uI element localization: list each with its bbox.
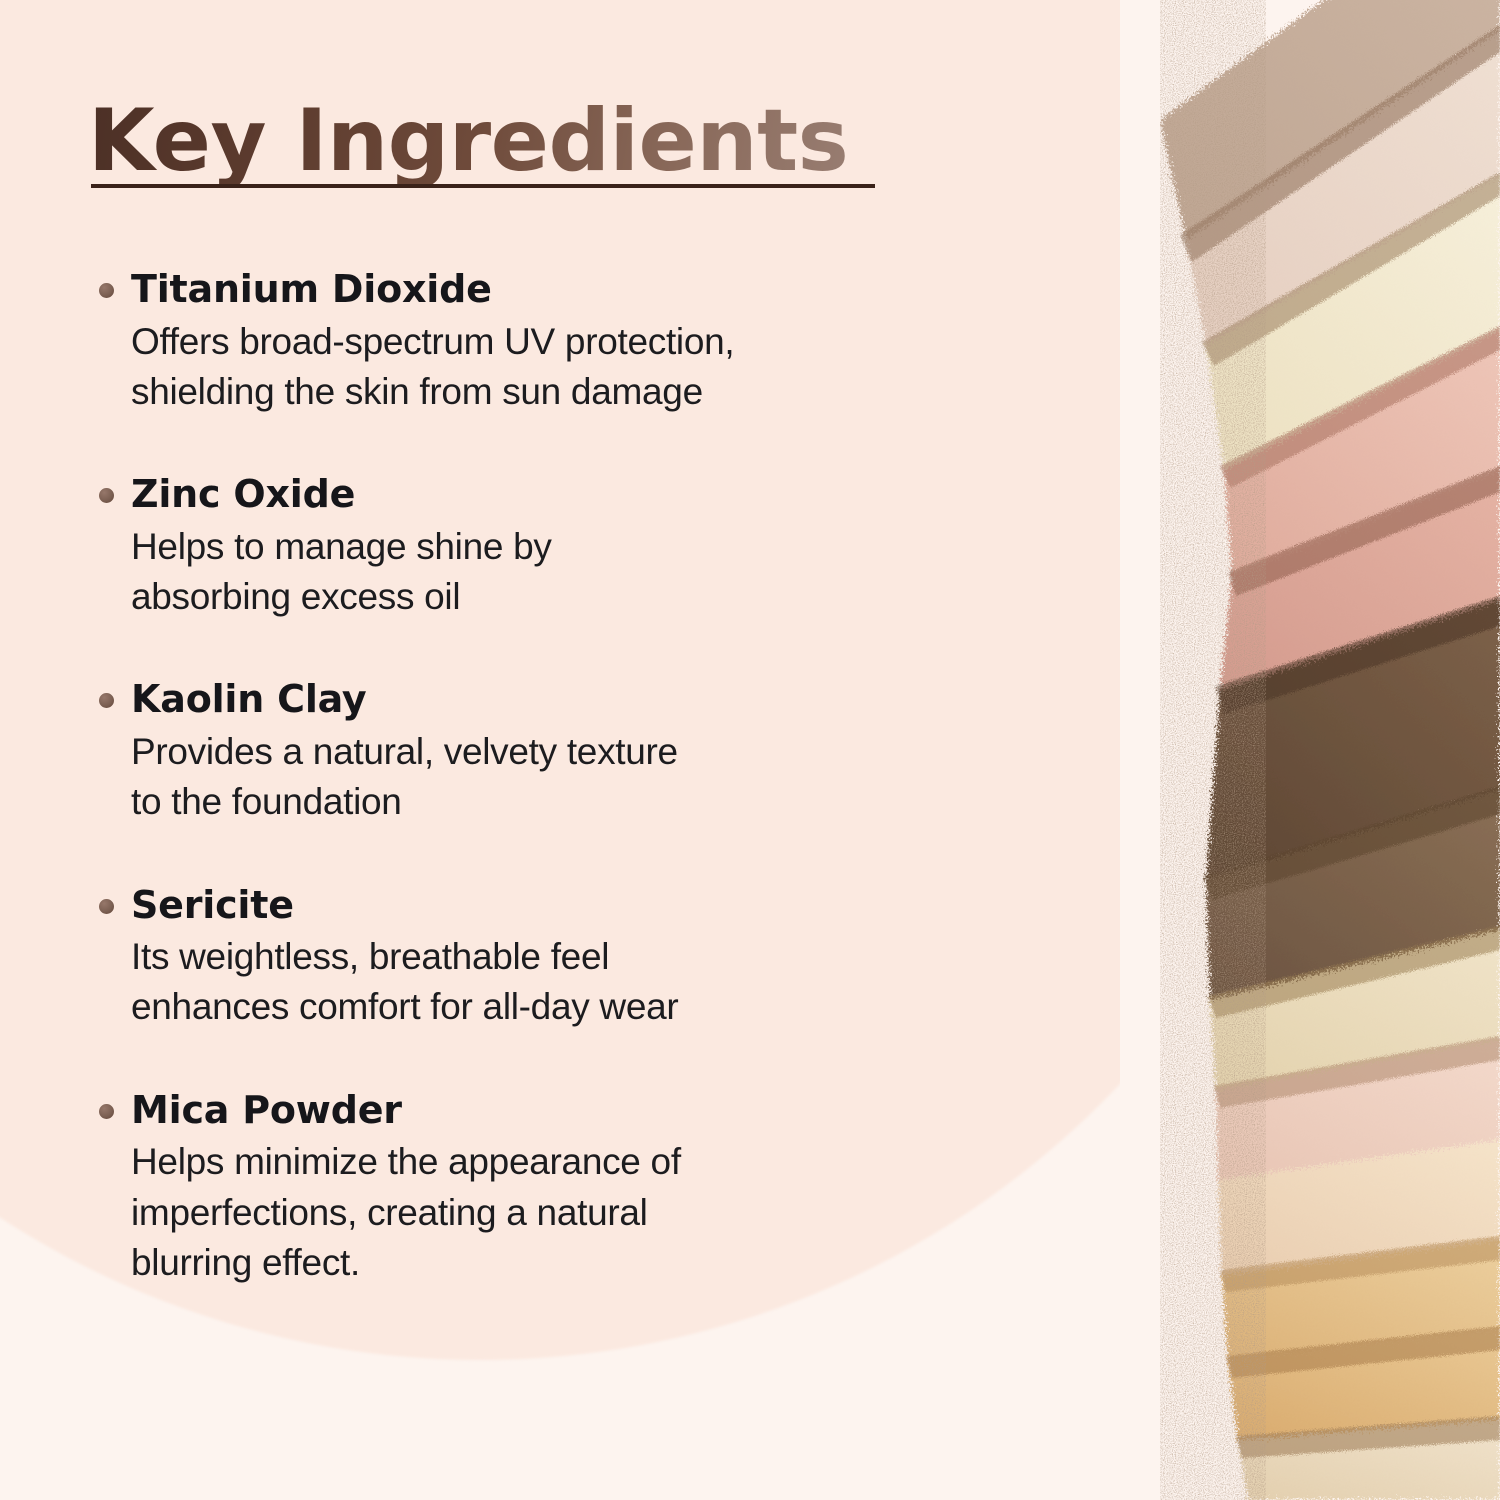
ingredient-description: Its weightless, breathable feel enhances… [131, 932, 1000, 1033]
bullet-icon [99, 693, 114, 708]
list-item: Kaolin Clay Provides a natural, velvety … [0, 678, 1000, 827]
page-title-underline [91, 184, 875, 188]
bullet-icon [99, 488, 114, 503]
list-item: Titanium Dioxide Offers broad-spectrum U… [0, 268, 1000, 417]
list-item: Mica Powder Helps minimize the appearanc… [0, 1089, 1000, 1288]
ingredients-list: Titanium Dioxide Offers broad-spectrum U… [0, 268, 1000, 1288]
product-ingredients-panel: Key Ingredients Titanium Dioxide Offers … [0, 0, 1500, 1500]
ingredient-description: Provides a natural, velvety texture to t… [131, 727, 1000, 828]
list-item: Zinc Oxide Helps to manage shine by abso… [0, 473, 1000, 622]
ingredient-name: Zinc Oxide [131, 473, 1000, 516]
powder-swatch-photo [1120, 0, 1500, 1500]
bullet-icon [99, 283, 114, 298]
ingredient-name: Mica Powder [131, 1089, 1000, 1132]
ingredient-name: Titanium Dioxide [131, 268, 1000, 311]
ingredient-name: Sericite [131, 884, 1000, 927]
bullet-icon [99, 899, 114, 914]
ingredient-name: Kaolin Clay [131, 678, 1000, 721]
page-title: Key Ingredients [88, 98, 888, 184]
ingredient-description: Helps to manage shine by absorbing exces… [131, 522, 1000, 623]
ingredient-description: Helps minimize the appearance of imperfe… [131, 1137, 1000, 1288]
ingredients-content: Key Ingredients Titanium Dioxide Offers … [0, 0, 1080, 1500]
bullet-icon [99, 1104, 114, 1119]
ingredient-description: Offers broad-spectrum UV protection, shi… [131, 317, 1000, 418]
list-item: Sericite Its weightless, breathable feel… [0, 884, 1000, 1033]
page-title-wrap: Key Ingredients [88, 98, 888, 184]
